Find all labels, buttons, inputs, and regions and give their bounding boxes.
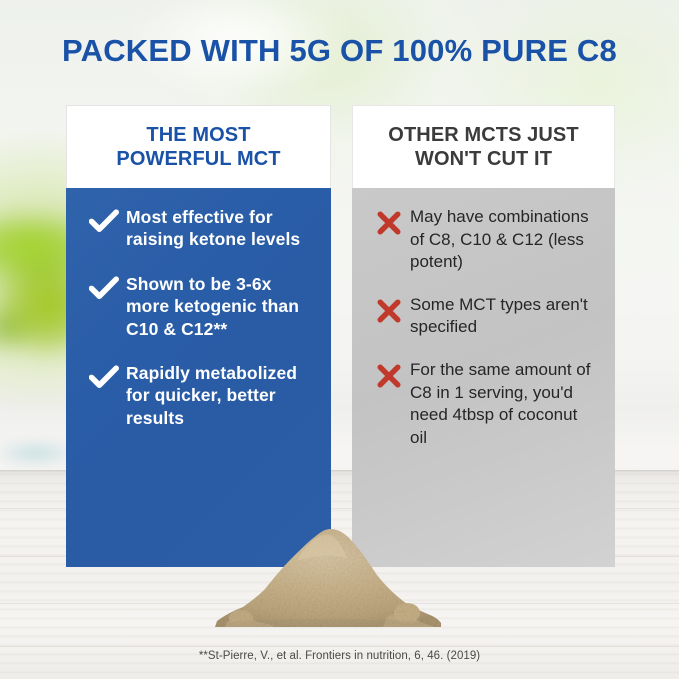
right-panel-body: May have combinations of C8, C10 & C12 (… bbox=[352, 188, 615, 567]
list-item: Shown to be 3-6x more ketogenic than C10… bbox=[82, 273, 315, 340]
list-item: Some MCT types aren't specified bbox=[368, 294, 599, 339]
right-panel-title-line-2: WON'T CUT IT bbox=[388, 147, 578, 171]
left-panel-header: THE MOST POWERFUL MCT bbox=[66, 105, 331, 188]
list-item: Most effective for raising ketone levels bbox=[82, 206, 315, 251]
left-panel-title-line-2: POWERFUL MCT bbox=[116, 147, 280, 171]
x-icon bbox=[368, 294, 410, 324]
page-title: PACKED WITH 5G OF 100% PURE C8 bbox=[0, 33, 679, 69]
list-item-label: Shown to be 3-6x more ketogenic than C10… bbox=[126, 273, 315, 340]
left-panel-title: THE MOST POWERFUL MCT bbox=[116, 123, 280, 172]
list-item: Rapidly metabolized for quicker, better … bbox=[82, 362, 315, 429]
list-item-label: For the same amount of C8 in 1 serving, … bbox=[410, 359, 599, 449]
right-panel-title: OTHER MCTS JUST WON'T CUT IT bbox=[388, 123, 578, 172]
list-item: For the same amount of C8 in 1 serving, … bbox=[368, 359, 599, 449]
right-panel-header: OTHER MCTS JUST WON'T CUT IT bbox=[352, 105, 615, 188]
check-icon bbox=[82, 362, 126, 391]
right-panel-title-line-1: OTHER MCTS JUST bbox=[388, 123, 578, 147]
x-icon bbox=[368, 206, 410, 236]
list-item: May have combinations of C8, C10 & C12 (… bbox=[368, 206, 599, 274]
check-icon bbox=[82, 273, 126, 302]
x-icon bbox=[368, 359, 410, 389]
list-item-label: Some MCT types aren't specified bbox=[410, 294, 599, 339]
check-icon bbox=[82, 206, 126, 235]
left-panel-title-line-1: THE MOST bbox=[116, 123, 280, 147]
list-item-label: Most effective for raising ketone levels bbox=[126, 206, 315, 251]
panel-other-mcts: OTHER MCTS JUST WON'T CUT IT May have co… bbox=[352, 105, 615, 567]
left-panel-body: Most effective for raising ketone levels… bbox=[66, 188, 331, 567]
panel-most-powerful-mct: THE MOST POWERFUL MCT Most effective for… bbox=[66, 105, 331, 567]
list-item-label: Rapidly metabolized for quicker, better … bbox=[126, 362, 315, 429]
infographic-stage: PACKED WITH 5G OF 100% PURE C8 THE MOST … bbox=[0, 0, 679, 679]
footnote-citation: **St-Pierre, V., et al. Frontiers in nut… bbox=[0, 650, 679, 662]
list-item-label: May have combinations of C8, C10 & C12 (… bbox=[410, 206, 599, 274]
